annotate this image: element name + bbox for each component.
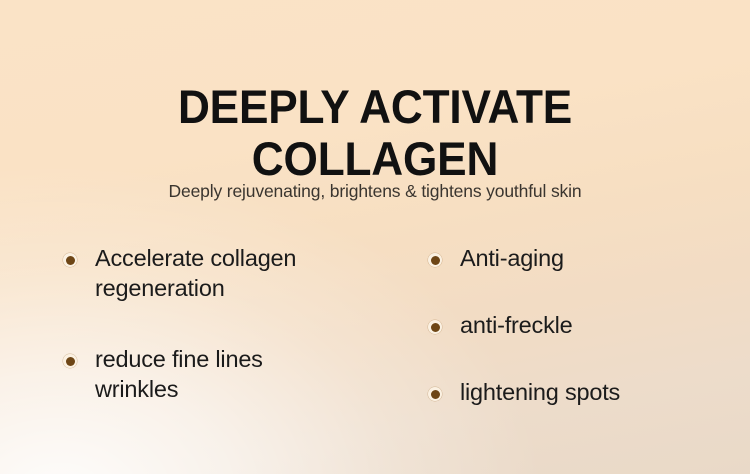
benefit-item-label: reduce fine lines wrinkles	[95, 344, 410, 404]
bullet-dot-icon	[63, 354, 77, 368]
page-title: DEEPLY ACTIVATE COLLAGEN	[23, 81, 728, 185]
benefit-line: Accelerate collagen	[95, 243, 410, 273]
bullet-dot-icon	[63, 253, 77, 267]
benefit-line: regeneration	[95, 273, 410, 303]
benefits-column-right: Anti-aging anti-freckle lightening spots	[425, 243, 745, 444]
benefit-item: lightening spots	[425, 377, 745, 407]
benefit-item-label: Anti-aging	[460, 243, 745, 273]
page-subtitle: Deeply rejuvenating, brightens & tighten…	[0, 180, 750, 202]
benefit-line: lightening spots	[460, 377, 745, 407]
benefit-item: Anti-aging	[425, 243, 745, 273]
benefit-line: Anti-aging	[460, 243, 745, 273]
benefits-column-left: Accelerate collagen regeneration reduce …	[60, 243, 410, 445]
benefit-item-label: Accelerate collagen regeneration	[95, 243, 410, 303]
benefit-line: reduce fine lines	[95, 344, 410, 374]
benefits-section: Accelerate collagen regeneration reduce …	[0, 243, 750, 474]
benefit-line: wrinkles	[95, 374, 410, 404]
bullet-dot-icon	[428, 387, 442, 401]
product-benefit-banner: DEEPLY ACTIVATE COLLAGEN Deeply rejuvena…	[0, 0, 750, 474]
benefit-item-label: lightening spots	[460, 377, 745, 407]
page-title-line-2: COLLAGEN	[23, 133, 728, 185]
page-title-line-1: DEEPLY ACTIVATE	[23, 81, 728, 133]
benefit-line: anti-freckle	[460, 310, 745, 340]
benefit-item: reduce fine lines wrinkles	[60, 344, 410, 404]
bullet-dot-icon	[428, 253, 442, 267]
benefit-item: Accelerate collagen regeneration	[60, 243, 410, 303]
bullet-dot-icon	[428, 320, 442, 334]
benefit-item: anti-freckle	[425, 310, 745, 340]
benefit-item-label: anti-freckle	[460, 310, 745, 340]
